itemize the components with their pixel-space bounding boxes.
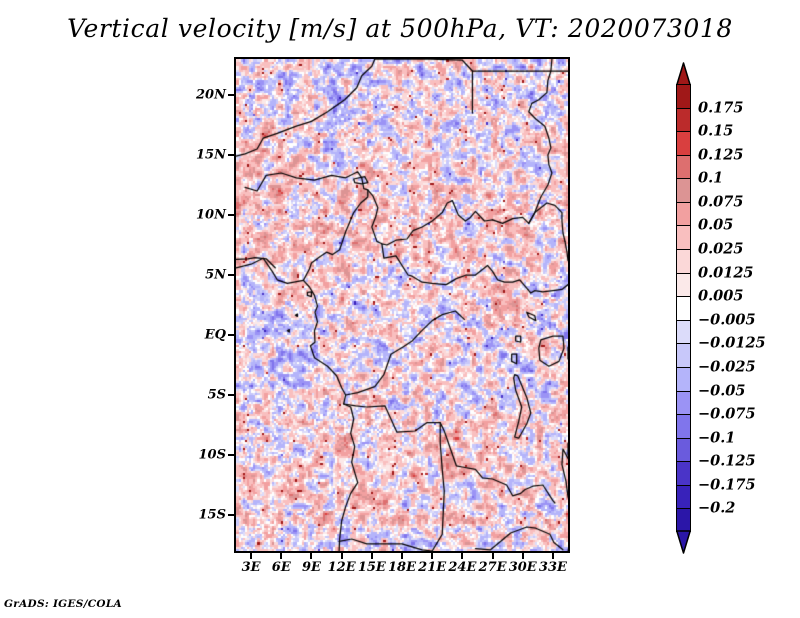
colorbar-tick-label: −0.0125	[698, 335, 766, 352]
colorbar-segment	[677, 486, 690, 510]
colorbar-segment	[677, 439, 690, 463]
colorbar-segment	[677, 415, 690, 439]
colorbar-tick-label: −0.005	[698, 311, 756, 328]
colorbar-segment	[677, 179, 690, 203]
colorbar-tick-label: 0.175	[698, 99, 743, 116]
xtick-mark	[522, 553, 524, 559]
xtick-label-9e: 9E	[302, 560, 321, 575]
map-plot-area	[234, 57, 570, 553]
xtick-label-33e: 33E	[539, 560, 567, 575]
ytick-label-15n: 15N	[196, 148, 226, 163]
ytick-mark	[228, 454, 234, 456]
ytick-label-10s: 10S	[199, 448, 226, 463]
ytick-mark	[228, 214, 234, 216]
colorbar-tick-label: −0.1	[698, 429, 735, 446]
xtick-mark	[371, 553, 373, 559]
colorbar-tick-label: 0.05	[698, 217, 733, 234]
xtick-label-12e: 12E	[328, 560, 356, 575]
xtick-mark	[431, 553, 433, 559]
xtick-label-18e: 18E	[388, 560, 416, 575]
colorbar-segment	[677, 132, 690, 156]
ytick-label-15s: 15S	[199, 508, 226, 523]
colorbar-tick-label: −0.05	[698, 382, 745, 399]
xtick-mark	[552, 553, 554, 559]
ytick-mark	[228, 334, 234, 336]
colorbar-tick-label: 0.025	[698, 241, 743, 258]
ytick-label-10n: 10N	[196, 208, 226, 223]
xtick-label-27e: 27E	[479, 560, 507, 575]
coastline-border-overlay	[236, 59, 568, 551]
colorbar-tick-label: −0.2	[698, 500, 735, 517]
xtick-label-15e: 15E	[358, 560, 386, 575]
xtick-mark	[401, 553, 403, 559]
colorbar-segment	[677, 344, 690, 368]
colorbar-segment	[677, 109, 690, 133]
colorbar-segments	[676, 84, 691, 532]
colorbar-tick-label: 0.15	[698, 123, 733, 140]
ytick-mark	[228, 514, 234, 516]
xtick-mark	[492, 553, 494, 559]
ytick-mark	[228, 394, 234, 396]
colorbar-segment	[677, 368, 690, 392]
xtick-mark	[310, 553, 312, 559]
ytick-label-20n: 20N	[196, 88, 226, 103]
colorbar-segment	[677, 250, 690, 274]
xtick-mark	[250, 553, 252, 559]
colorbar-tick-label: −0.175	[698, 476, 756, 493]
colorbar-arrow-down-icon	[676, 530, 691, 554]
xtick-label-24e: 24E	[448, 560, 476, 575]
latitude-axis	[0, 0, 224, 618]
colorbar-segment	[677, 156, 690, 180]
colorbar-arrow-up-icon	[676, 62, 691, 86]
colorbar: 0.1750.150.1250.10.0750.050.0250.01250.0…	[676, 62, 691, 554]
colorbar-tick-label: −0.125	[698, 453, 756, 470]
xtick-label-30e: 30E	[509, 560, 537, 575]
colorbar-tick-label: 0.075	[698, 193, 743, 210]
ytick-label-5n: 5N	[205, 268, 226, 283]
xtick-label-3e: 3E	[242, 560, 261, 575]
footer-credit: GrADS: IGES/COLA	[4, 598, 122, 610]
ytick-label-eq: EQ	[205, 328, 226, 343]
ytick-mark	[228, 154, 234, 156]
colorbar-segment	[677, 297, 690, 321]
colorbar-segment	[677, 85, 690, 109]
xtick-mark	[341, 553, 343, 559]
ytick-mark	[228, 274, 234, 276]
colorbar-segment	[677, 274, 690, 298]
colorbar-segment	[677, 321, 690, 345]
colorbar-tick-label: −0.075	[698, 406, 756, 423]
xtick-mark	[280, 553, 282, 559]
colorbar-tick-label: 0.125	[698, 146, 743, 163]
xtick-label-6e: 6E	[272, 560, 291, 575]
colorbar-tick-label: 0.005	[698, 288, 743, 305]
colorbar-segment	[677, 462, 690, 486]
colorbar-segment	[677, 226, 690, 250]
colorbar-tick-label: 0.0125	[698, 264, 754, 281]
ytick-label-5s: 5S	[208, 388, 226, 403]
colorbar-segment	[677, 392, 690, 416]
colorbar-tick-label: −0.025	[698, 358, 756, 375]
colorbar-segment	[677, 203, 690, 227]
colorbar-tick-label: 0.1	[698, 170, 723, 187]
xtick-mark	[461, 553, 463, 559]
xtick-label-21e: 21E	[418, 560, 446, 575]
ytick-mark	[228, 94, 234, 96]
